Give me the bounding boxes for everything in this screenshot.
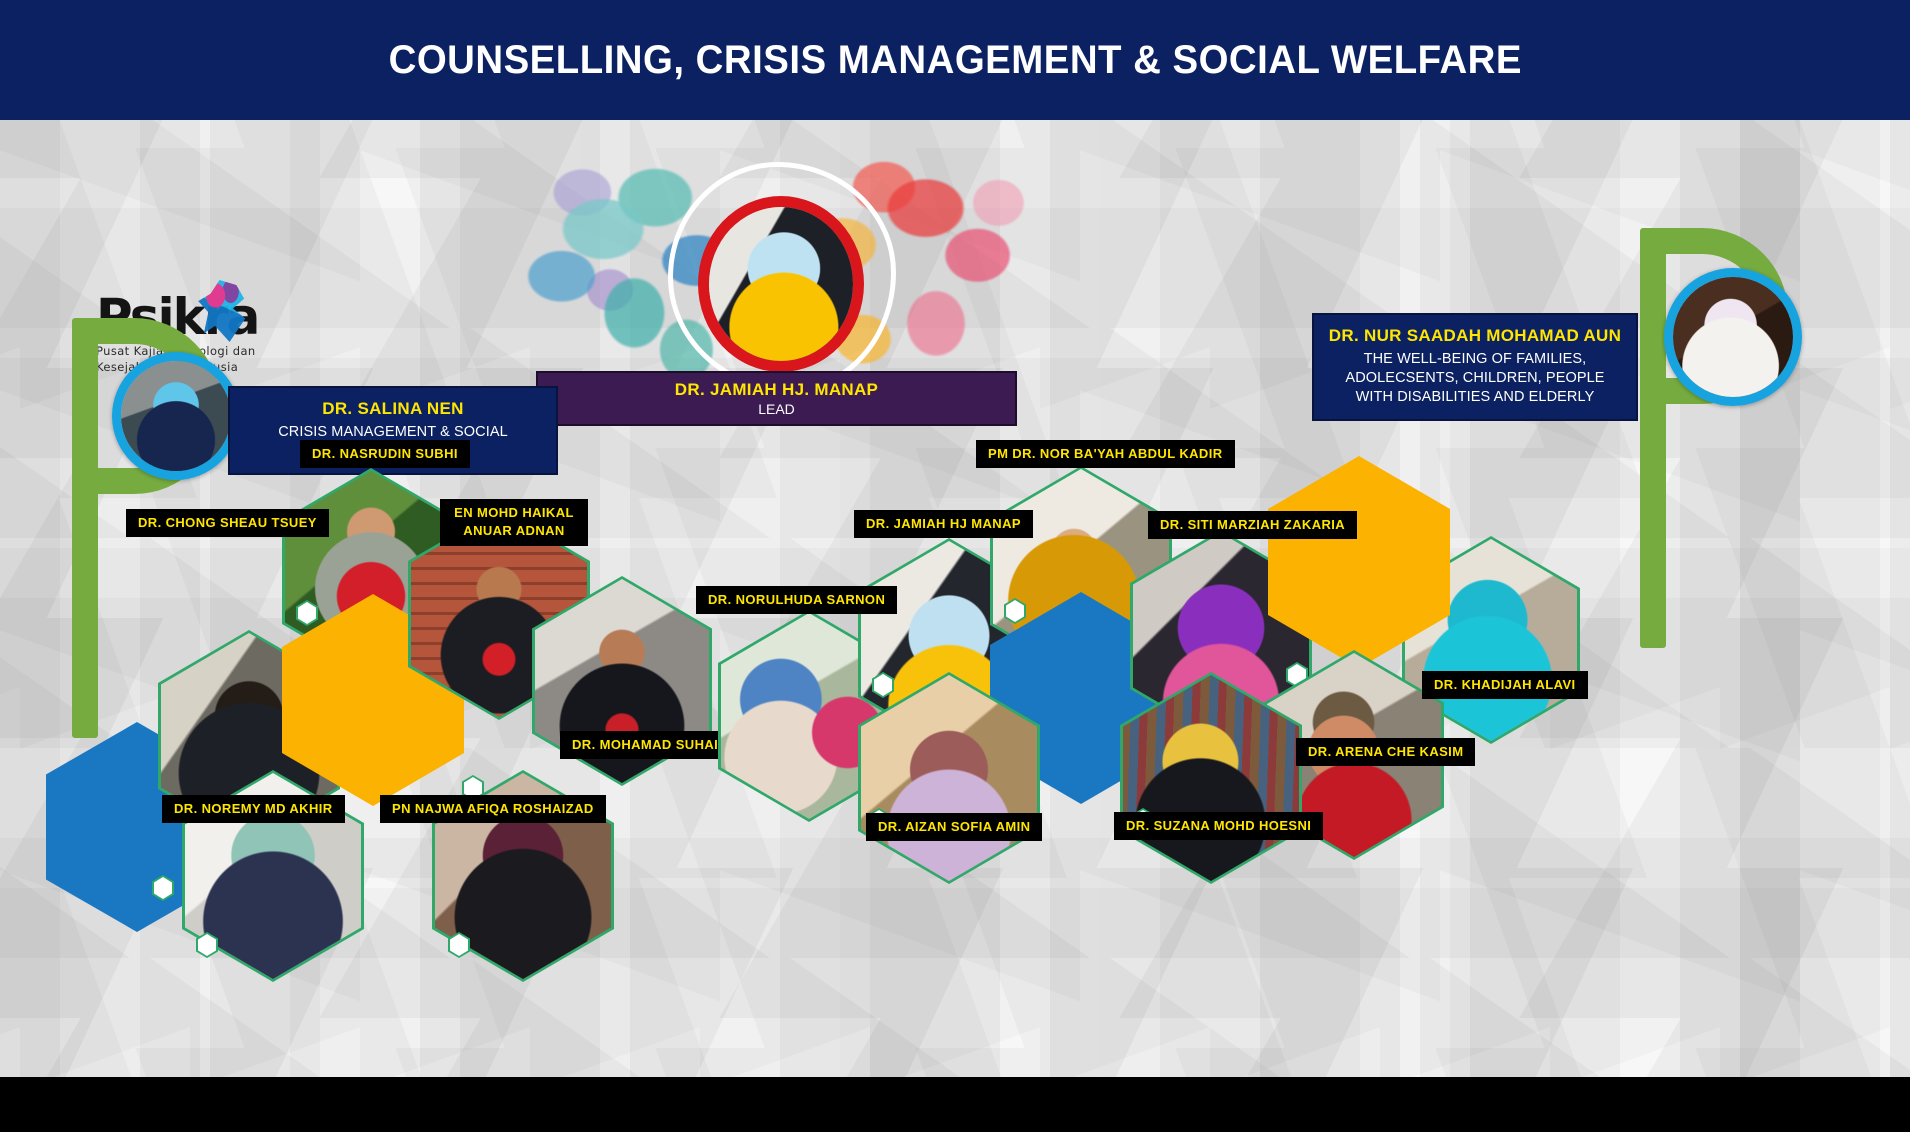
- hero-watercolor-head: [520, 140, 1040, 402]
- label-noremy-md-akhir: DR. NOREMY MD AKHIR: [162, 795, 345, 823]
- label-mohd-haikal: EN MOHD HAIKAL ANUAR ADNAN: [440, 499, 588, 546]
- label-suzana-mohd-hoesni: DR. SUZANA MOHD HOESNI: [1114, 812, 1323, 840]
- label-nor-bayah-abdul-kadir: PM DR. NOR BA'YAH ABDUL KADIR: [976, 440, 1235, 468]
- page-title: COUNSELLING, CRISIS MANAGEMENT & SOCIAL …: [388, 38, 1521, 83]
- avatar-salina-nen: [112, 352, 240, 480]
- lead-role: LEAD: [538, 400, 1015, 419]
- footer-bar: [0, 1077, 1910, 1132]
- label-siti-marziah-zakaria: DR. SITI MARZIAH ZAKARIA: [1148, 511, 1357, 539]
- avatar-nur-saadah: [1664, 268, 1802, 406]
- hero-portrait-jamiah: [698, 196, 864, 372]
- avatar-image-nur-saadah: [1673, 277, 1793, 397]
- card-role-nur-line2: ADOLECSENTS, CHILDREN, PEOPLE: [1328, 369, 1622, 388]
- card-role-nur-line1: THE WELL-BEING OF FAMILIES,: [1328, 350, 1622, 369]
- label-nasrudin-subhi: DR. NASRUDIN SUBHI: [300, 440, 470, 468]
- label-najwa-afiqa: PN NAJWA AFIQA ROSHAIZAD: [380, 795, 606, 823]
- poster-canvas: COUNSELLING, CRISIS MANAGEMENT & SOCIAL …: [0, 0, 1910, 1132]
- lead-name: DR. JAMIAH HJ. MANAP: [538, 379, 1015, 400]
- label-norulhuda-sarnon: DR. NORULHUDA SARNON: [696, 586, 897, 614]
- label-chong-sheau-tsuey: DR. CHONG SHEAU TSUEY: [126, 509, 329, 537]
- label-arena-che-kasim: DR. ARENA CHE KASIM: [1296, 738, 1475, 766]
- card-name-salina: DR. SALINA NEN: [244, 398, 542, 420]
- label-khadijah-alavi: DR. KHADIJAH ALAVI: [1422, 671, 1588, 699]
- card-name-nur-saadah: DR. NUR SAADAH MOHAMAD AUN: [1328, 325, 1622, 347]
- card-nur-saadah: DR. NUR SAADAH MOHAMAD AUN THE WELL-BEIN…: [1312, 313, 1638, 421]
- card-role-nur-line3: WITH DISABILITIES AND ELDERLY: [1328, 388, 1622, 407]
- header-bar: COUNSELLING, CRISIS MANAGEMENT & SOCIAL …: [0, 0, 1910, 120]
- hero-portrait-image: [709, 207, 853, 361]
- avatar-image-salina: [121, 361, 231, 471]
- lead-card: DR. JAMIAH HJ. MANAP LEAD: [536, 371, 1017, 426]
- label-aizan-sofia-amin: DR. AIZAN SOFIA AMIN: [866, 813, 1042, 841]
- label-jamiah-hj-manap: DR. JAMIAH HJ MANAP: [854, 510, 1033, 538]
